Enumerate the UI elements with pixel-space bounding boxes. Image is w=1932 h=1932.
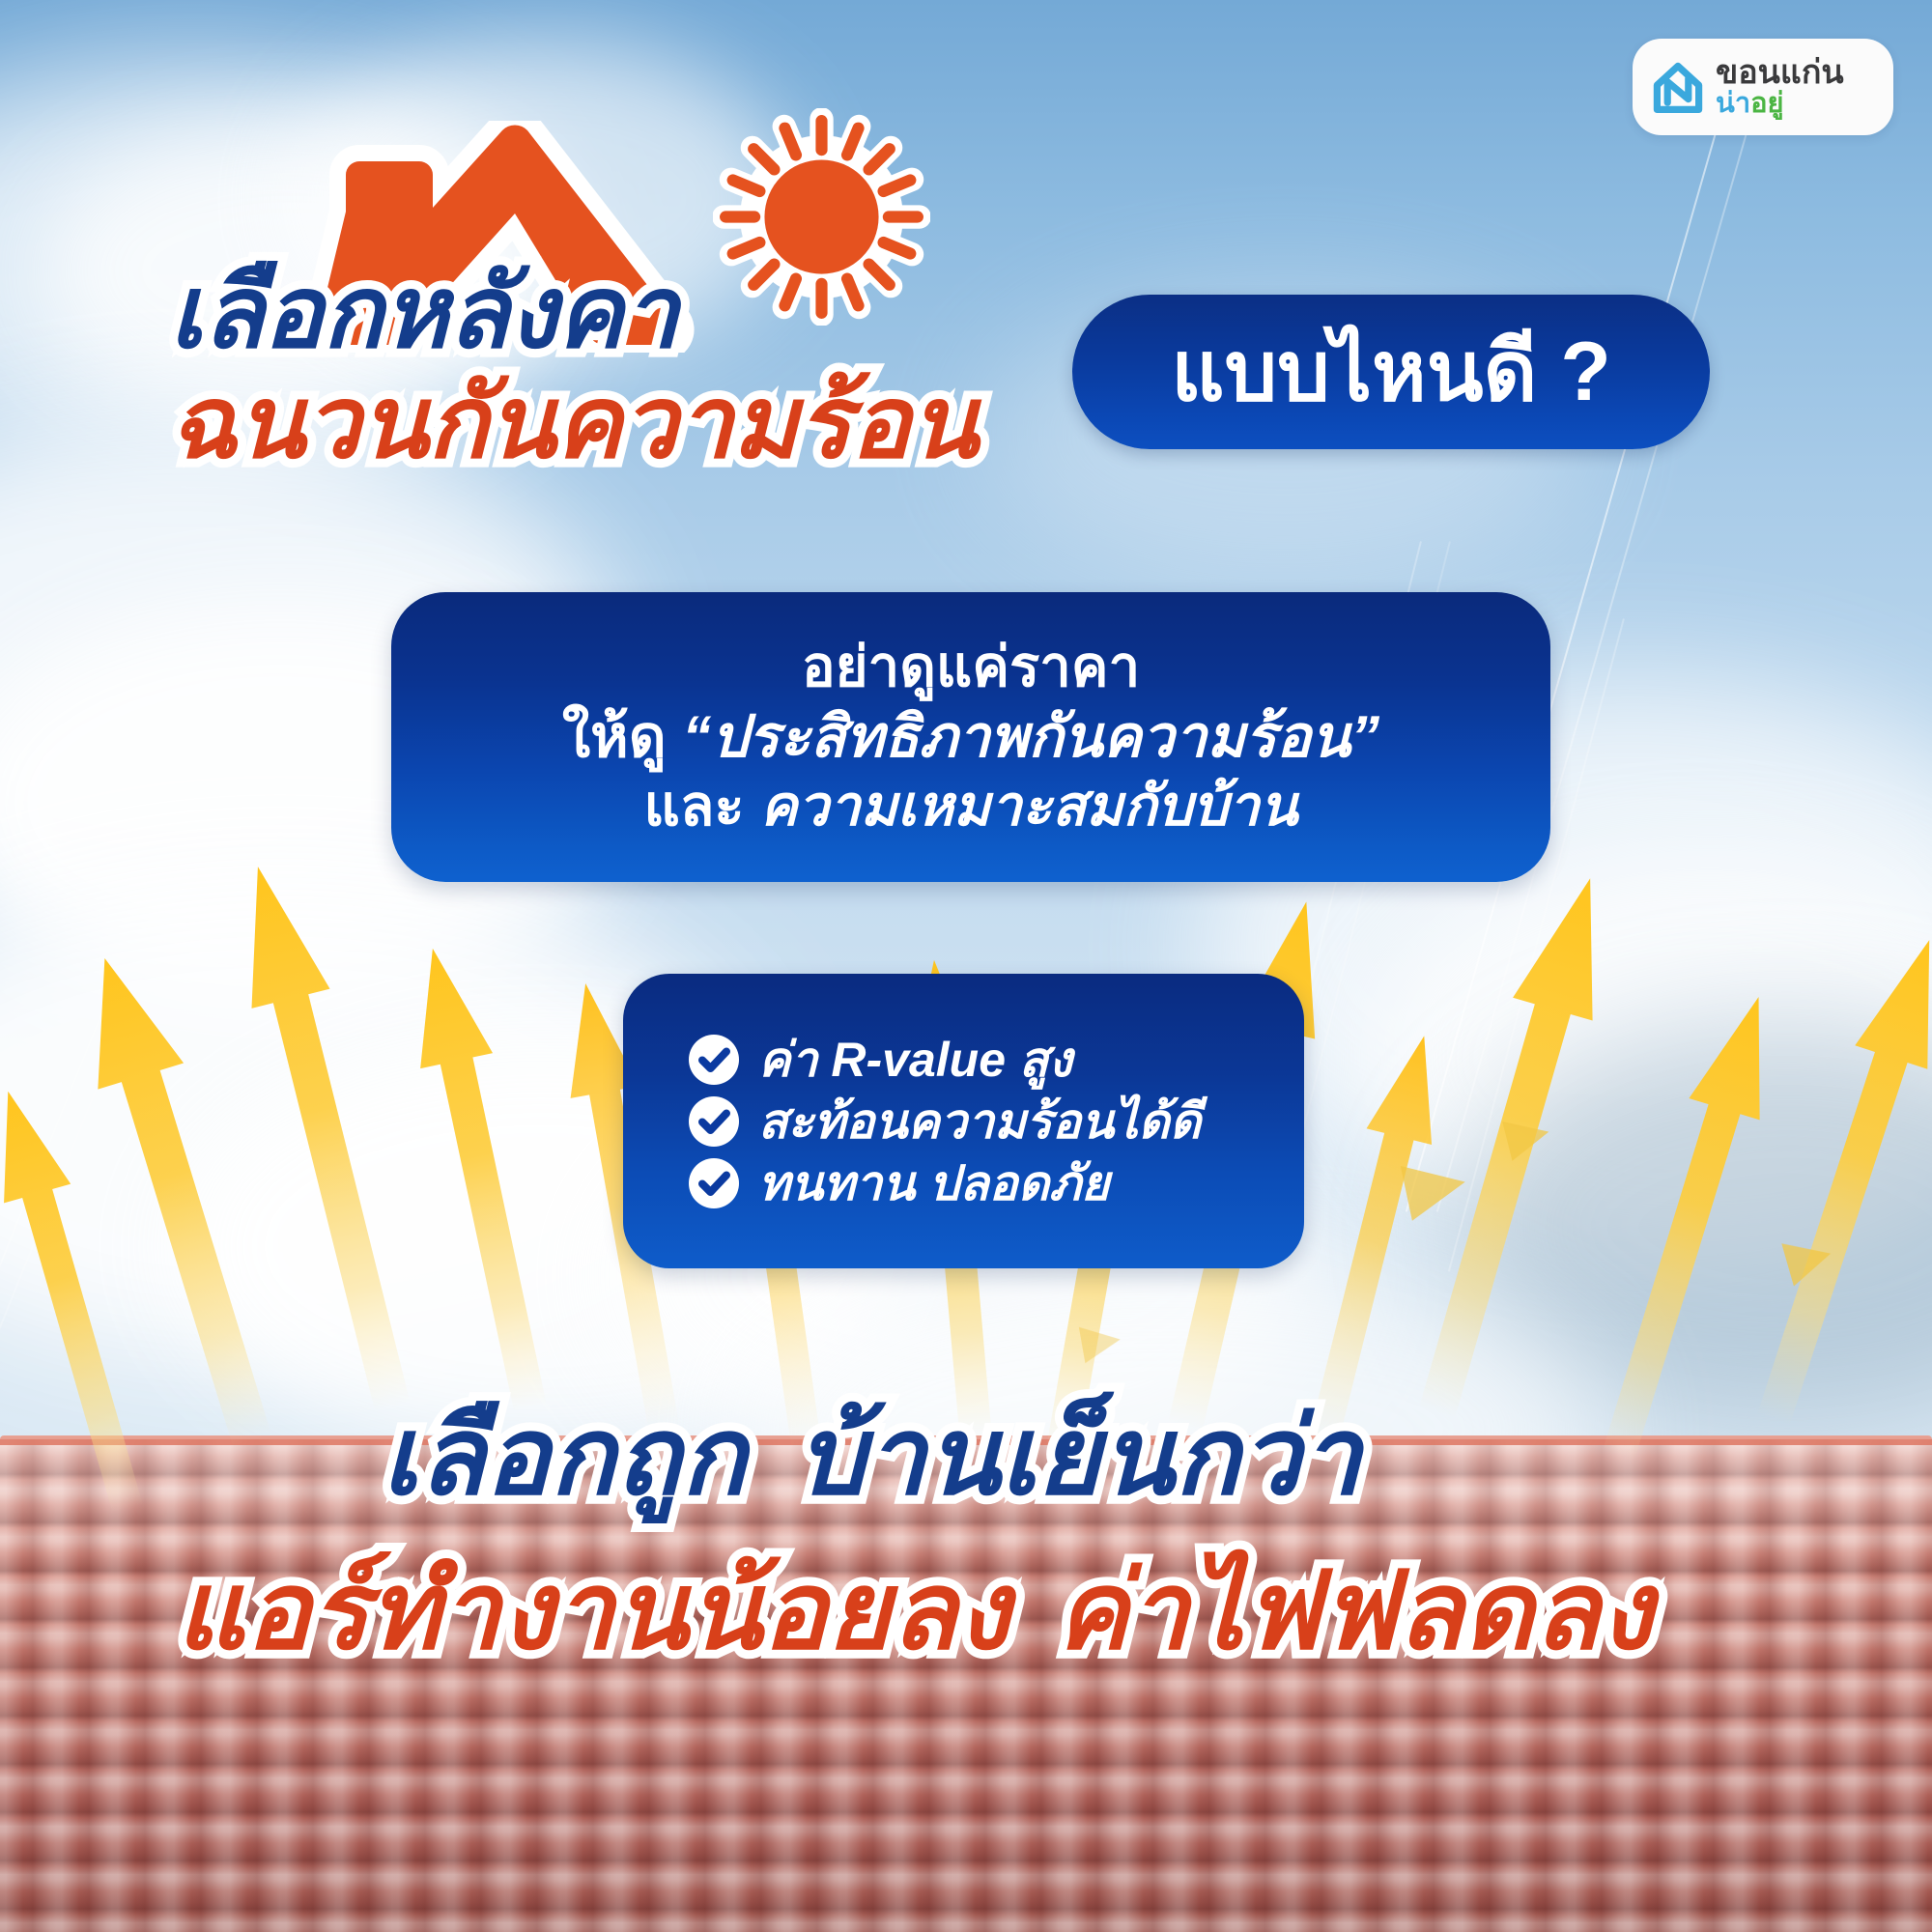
- bottom-line1-word2: บ้านเย็นกว่า: [797, 1403, 1362, 1511]
- question-pill[interactable]: แบบไหนดี ?: [1072, 295, 1710, 449]
- checklist-item: ค่า R-value สูง: [689, 1033, 1304, 1087]
- brand-name-line1: ขอนแก่น: [1716, 56, 1844, 90]
- check-circle-icon: [689, 1035, 739, 1085]
- question-pill-label: แบบไหนดี ?: [1171, 330, 1611, 413]
- checklist-item-label: ค่า R-value สูง: [758, 1033, 1072, 1087]
- house-n-logo-icon: [1652, 59, 1704, 115]
- bottom-line2-word2: ค่าไฟฟลดลง: [1056, 1557, 1652, 1665]
- advice-line-3: และ ความเหมาะสมกับบ้าน: [644, 773, 1298, 841]
- checklist-card: ค่า R-value สูง สะท้อนความร้อนได้ดี ทนทา…: [623, 974, 1304, 1268]
- advice-line-2-prefix: ให้ดู: [562, 704, 682, 769]
- advice-line-2-quoted: “ประสิทธิภาพกันความร้อน”: [682, 704, 1379, 769]
- advice-line-2: ให้ดู “ประสิทธิภาพกันความร้อน”: [562, 701, 1379, 772]
- advice-line-1: อย่าดูแค่ราคา: [802, 634, 1140, 702]
- checklist-item-label: ทนทาน ปลอดภัย: [758, 1156, 1109, 1210]
- check-circle-icon: [689, 1158, 739, 1208]
- bottom-line1-word1: เลือกถูก: [382, 1403, 747, 1511]
- checklist-item: ทนทาน ปลอดภัย: [689, 1156, 1304, 1210]
- brand-name-line2-blue: น่า: [1716, 88, 1750, 119]
- brand-name-line2-green: อยู่: [1750, 88, 1783, 119]
- brand-name-line2: น่าอยู่: [1716, 90, 1844, 119]
- check-circle-icon: [689, 1096, 739, 1147]
- checklist-item: สะท้อนความร้อนได้ดี: [689, 1094, 1304, 1149]
- headline-line1: เลือกหลังคา: [169, 263, 978, 363]
- headline-line2: ฉนวนกันความร้อน: [169, 373, 978, 473]
- poster-canvas: เลือกหลังคา ฉนวนกันความร้อน แบบไหนดี ? อ…: [0, 0, 1932, 1932]
- brand-logo-text: ขอนแก่น น่าอยู่: [1716, 56, 1844, 118]
- advice-line-3-emph: ความเหมาะสมกับบ้าน: [760, 775, 1298, 838]
- brand-logo-badge[interactable]: ขอนแก่น น่าอยู่: [1633, 39, 1893, 135]
- bottom-line2-word1: แอร์ทำงานน้อยลง: [176, 1557, 1009, 1665]
- bottom-slogan-line-2: แอร์ทำงานน้อยลง ค่าไฟฟลดลง: [176, 1557, 1653, 1665]
- checklist-item-label: สะท้อนความร้อนได้ดี: [758, 1094, 1201, 1149]
- bottom-slogan-line-1: เลือกถูก บ้านเย็นกว่า: [382, 1403, 1361, 1511]
- advice-card: อย่าดูแค่ราคา ให้ดู “ประสิทธิภาพกันความร…: [391, 592, 1550, 882]
- advice-line-3-prefix: และ: [644, 775, 760, 838]
- headline: เลือกหลังคา ฉนวนกันความร้อน: [169, 263, 978, 473]
